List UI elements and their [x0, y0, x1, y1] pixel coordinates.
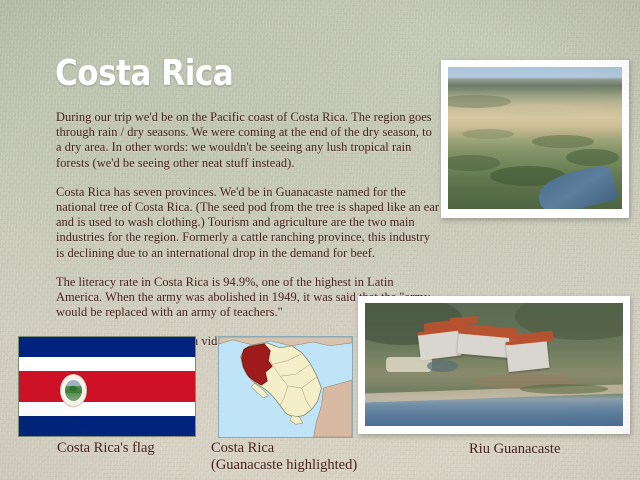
resort-pool [427, 360, 458, 372]
page-title: Costa Rica [55, 54, 233, 94]
coat-of-arms-icon [60, 374, 87, 407]
photo-landscape-frame [441, 60, 629, 218]
flag-stripe-white-lower [19, 402, 195, 416]
resort-roof-top [450, 316, 479, 325]
map-osa-peninsula [290, 415, 303, 424]
photo-resort-frame [358, 296, 630, 434]
caption-map-line2: (Guanacaste highlighted) [211, 457, 357, 474]
landscape-field-1 [448, 95, 511, 108]
landscape-artwork [448, 67, 622, 209]
map-svg [219, 337, 352, 437]
flag-stripe-red [19, 371, 195, 403]
flag-stripe-blue-top [19, 337, 195, 357]
landscape-tree-cluster-1 [532, 135, 595, 148]
caption-map: Costa Rica (Guanacaste highlighted) [211, 440, 357, 474]
photo-landscape-image [448, 67, 622, 209]
resort-artwork [365, 303, 623, 426]
caption-map-line1: Costa Rica [211, 440, 357, 457]
caption-riu: Riu Guanacaste [469, 441, 560, 458]
presentation-slide: Costa Rica During our trip we'd be on th… [0, 0, 640, 480]
landscape-tree-cluster-4 [566, 149, 618, 166]
landscape-field-2 [500, 104, 584, 115]
flag-stripe-white-upper [19, 357, 195, 371]
coat-of-arms-volcano [69, 386, 77, 391]
photo-resort-image [365, 303, 623, 426]
costa-rica-flag-image [18, 336, 196, 437]
costa-rica-map-image [218, 336, 353, 438]
resort-vegetation-shore [520, 384, 608, 394]
body-paragraph-1: During our trip we'd be on the Pacific c… [56, 110, 440, 171]
caption-flag: Costa Rica's flag [57, 440, 155, 457]
flag-stripe-blue-bottom [19, 416, 195, 436]
resort-plaza [386, 357, 432, 372]
landscape-field-3 [462, 129, 514, 139]
map-north-landmass [219, 337, 352, 346]
landscape-tree-cluster-2 [448, 155, 500, 171]
body-paragraph-2: Costa Rica has seven provinces. We'd be … [56, 185, 440, 261]
